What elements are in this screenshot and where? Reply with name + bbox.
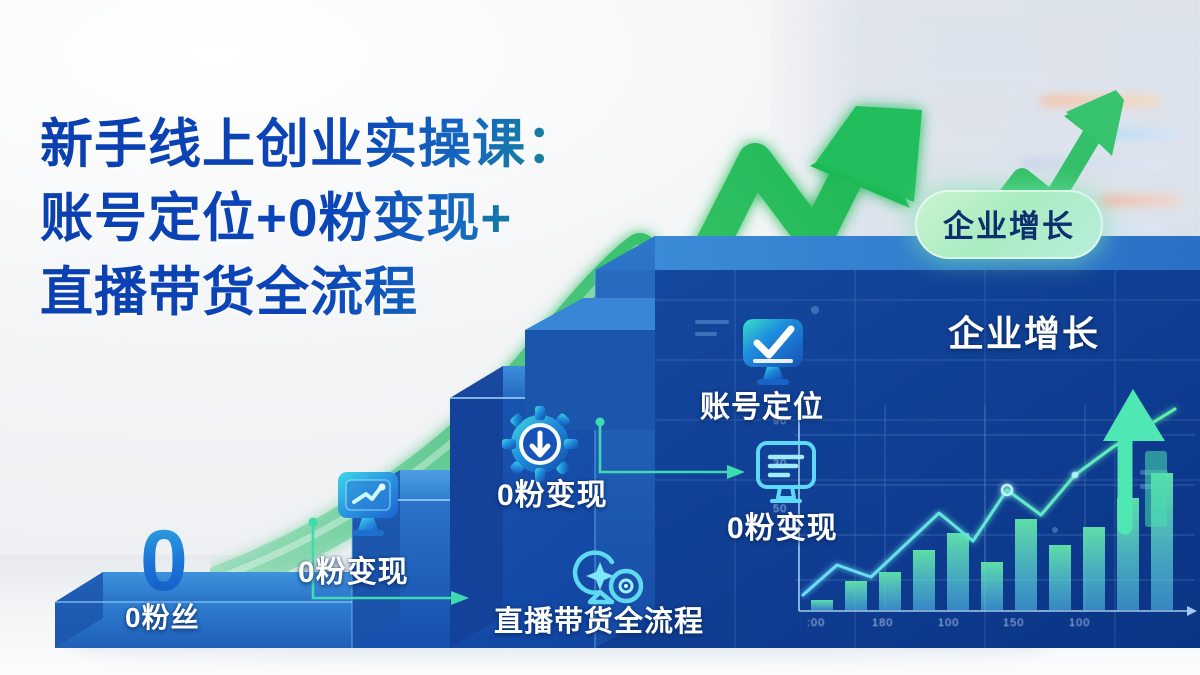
step-7-label: 企业增长: [948, 305, 1100, 357]
status-badge-enterprise-growth[interactable]: 企业增长: [915, 190, 1103, 259]
monitor-growth-icon: [332, 466, 404, 540]
chart-xtick-1: 180: [872, 617, 893, 629]
ring-light-camera-icon: [566, 538, 650, 612]
step-1-label: 0粉丝: [125, 596, 200, 636]
panel-growth-arrow-icon: [1095, 355, 1190, 535]
poster-canvas: 90 30 50 :00 180 100 150 100 新手线上创业实操课： …: [0, 0, 1200, 675]
step-1-number: 0: [140, 518, 188, 604]
step-2-label: 0粉变现: [298, 547, 409, 591]
chart-xtick-3: 150: [1003, 617, 1024, 629]
chart-xtick-0: :00: [807, 617, 825, 629]
chart-xtick-4: 100: [1069, 617, 1090, 629]
monitor-document-icon: [750, 437, 822, 511]
page-title: 新手线上创业实操课： 账号定位+0粉变现+ 直播带货全流程: [40, 108, 730, 330]
monitor-check-icon: [737, 315, 809, 389]
chart-xtick-2: 100: [938, 617, 959, 629]
gear-download-icon: [502, 406, 578, 482]
